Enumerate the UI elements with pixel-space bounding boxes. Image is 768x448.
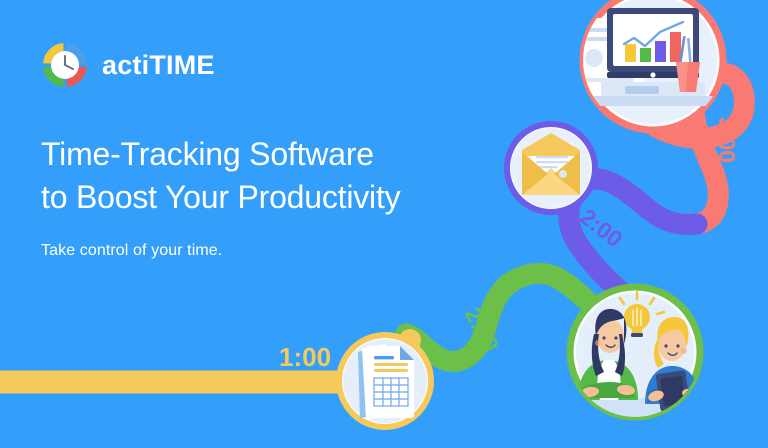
time-label-3-00: 3:00 — [715, 117, 738, 163]
page-title: Time-Tracking Software to Boost Your Pro… — [41, 133, 400, 219]
clock-circle-icon — [40, 40, 90, 90]
node-email[interactable] — [507, 124, 595, 212]
logo-wordmark: actiTIME — [102, 52, 215, 79]
node-timesheet[interactable] — [339, 335, 431, 427]
node-team[interactable] — [570, 287, 702, 420]
node-reports[interactable] — [578, 0, 723, 130]
time-label-1-00: 1:00 — [279, 344, 331, 370]
path-segment-email — [569, 179, 697, 300]
hero-banner: actiTIME Time-Tracking Software to Boost… — [0, 0, 768, 448]
headline-line-2: to Boost Your Productivity — [41, 176, 400, 219]
headline-line-1: Time-Tracking Software — [41, 133, 400, 176]
subheadline: Take control of your time. — [41, 240, 222, 262]
logo[interactable]: actiTIME — [40, 40, 215, 90]
